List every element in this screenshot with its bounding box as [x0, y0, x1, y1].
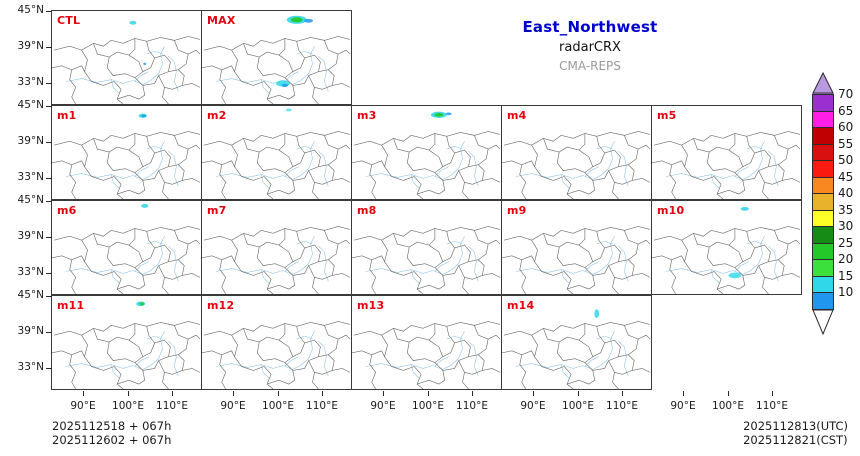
colorbar-cap-top-outline — [812, 72, 834, 94]
colorbar-tick-label: 50 — [838, 155, 853, 165]
colorbar-tick-label: 60 — [838, 122, 853, 132]
colorbar-segment — [812, 259, 834, 277]
panel-label: m3 — [357, 109, 377, 122]
y-axis-tick-label: 39°N — [2, 135, 44, 147]
colorbar-cap-bottom — [812, 309, 834, 335]
colorbar-segment — [812, 276, 834, 294]
x-axis-tick — [622, 391, 623, 396]
colorbar-segment — [812, 193, 834, 211]
colorbar-tick-label: 45 — [838, 172, 853, 182]
x-axis-tick-label: 110°E — [149, 400, 195, 412]
colorbar-segment — [812, 160, 834, 178]
colorbar-tick-label: 20 — [838, 254, 853, 264]
x-axis-tick — [728, 391, 729, 396]
y-axis-tick — [46, 142, 52, 143]
x-axis-tick — [322, 391, 323, 396]
panel-label: m2 — [207, 109, 227, 122]
colorbar-tick-label: 30 — [838, 221, 853, 231]
panel-label: MAX — [207, 14, 236, 27]
colorbar-segment — [812, 111, 834, 129]
x-axis-tick-label: 90°E — [660, 400, 706, 412]
colorbar-tick-label: 15 — [838, 271, 853, 281]
footer-right-line1: 2025112813(UTC) — [743, 420, 848, 434]
colorbar-tick-label: 25 — [838, 238, 853, 248]
panel-empty — [651, 295, 802, 390]
panel-label: m13 — [357, 299, 384, 312]
colorbar-segment — [812, 210, 834, 228]
y-axis-tick-label: 33°N — [2, 266, 44, 278]
x-axis-tick — [83, 391, 84, 396]
x-axis-tick — [578, 391, 579, 396]
colorbar-segment — [812, 94, 834, 112]
colorbar-tick-label: 40 — [838, 188, 853, 198]
panel-empty — [351, 10, 502, 105]
panel-row: m1m2m3m4m5 — [52, 106, 807, 201]
x-axis-tick-label: 90°E — [60, 400, 106, 412]
panel-m10[interactable]: m10 — [651, 200, 802, 295]
y-axis-tick-label: 39°N — [2, 325, 44, 337]
colorbar-tick-label: 55 — [838, 139, 853, 149]
x-axis-tick-label: 90°E — [510, 400, 556, 412]
y-axis-tick — [46, 106, 52, 107]
panel-label: m5 — [657, 109, 677, 122]
panel-m2[interactable]: m2 — [201, 105, 352, 200]
y-axis-tick-label: 39°N — [2, 230, 44, 242]
x-axis-tick — [383, 391, 384, 396]
x-axis-tick — [128, 391, 129, 396]
panel-m14[interactable]: m14 — [501, 295, 652, 390]
y-axis-tick-label: 45°N — [2, 99, 44, 111]
colorbar-segment — [812, 226, 834, 244]
x-axis-tick-label: 100°E — [705, 400, 751, 412]
panel-label: m12 — [207, 299, 234, 312]
panel-label: m9 — [507, 204, 527, 217]
colorbar-tick-label: 35 — [838, 205, 853, 215]
y-axis-tick — [46, 296, 52, 297]
x-axis-tick-label: 110°E — [599, 400, 645, 412]
x-axis-tick — [772, 391, 773, 396]
panel-m3[interactable]: m3 — [351, 105, 502, 200]
panel-label: m11 — [57, 299, 84, 312]
footer-left: 2025112518 + 067h 2025112602 + 067h — [52, 420, 171, 447]
panel-m7[interactable]: m7 — [201, 200, 352, 295]
y-axis-tick — [46, 83, 52, 84]
colorbar-segment — [812, 127, 834, 145]
panel-m6[interactable]: m6 — [51, 200, 202, 295]
x-axis-tick — [233, 391, 234, 396]
y-axis-tick-label: 45°N — [2, 289, 44, 301]
x-axis-tick-label: 90°E — [360, 400, 406, 412]
panel-empty — [501, 10, 652, 105]
x-axis-tick-label: 90°E — [210, 400, 256, 412]
y-axis-tick — [46, 332, 52, 333]
panel-m8[interactable]: m8 — [351, 200, 502, 295]
x-axis-tick — [172, 391, 173, 396]
panel-row: CTLMAX — [52, 11, 807, 106]
colorbar-segment — [812, 243, 834, 261]
y-axis-tick — [46, 201, 52, 202]
x-axis-tick — [428, 391, 429, 396]
footer-right: 2025112813(UTC) 2025112821(CST) — [743, 420, 848, 447]
y-axis-tick — [46, 11, 52, 12]
panel-label: CTL — [57, 14, 80, 27]
panel-row: m11m12m13m14 — [52, 296, 807, 391]
x-axis-tick — [683, 391, 684, 396]
panel-label: m10 — [657, 204, 684, 217]
colorbar-segment — [812, 177, 834, 195]
panel-empty — [651, 10, 802, 105]
x-axis-tick-label: 100°E — [255, 400, 301, 412]
panel-label: m6 — [57, 204, 77, 217]
panel-m11[interactable]: m11 — [51, 295, 202, 390]
panel-row: m6m7m8m9m10 — [52, 201, 807, 296]
x-axis-tick-label: 100°E — [105, 400, 151, 412]
footer-left-line2: 2025112602 + 067h — [52, 434, 171, 448]
x-axis-tick — [278, 391, 279, 396]
colorbar-tick-label: 10 — [838, 287, 853, 297]
y-axis-tick-label: 33°N — [2, 76, 44, 88]
x-axis-tick — [533, 391, 534, 396]
x-axis-tick-label: 110°E — [449, 400, 495, 412]
footer-left-line1: 2025112518 + 067h — [52, 420, 171, 434]
panel-m9[interactable]: m9 — [501, 200, 652, 295]
y-axis-tick-label: 39°N — [2, 40, 44, 52]
x-axis-tick-label: 110°E — [299, 400, 345, 412]
colorbar-segment — [812, 144, 834, 162]
colorbar-tick-label: 65 — [838, 106, 853, 116]
y-axis-tick-label: 45°N — [2, 194, 44, 206]
colorbar: 70656055504540353025201510 — [812, 72, 834, 336]
y-axis-tick — [46, 178, 52, 179]
panel-grid: CTLMAXm1m2m3m4m5m6m7m8m9m10m11m12m13m14 — [52, 11, 807, 391]
colorbar-segment — [812, 292, 834, 310]
panel-label: m8 — [357, 204, 377, 217]
y-axis-tick-label: 33°N — [2, 171, 44, 183]
panel-max[interactable]: MAX — [201, 10, 352, 105]
panel-label: m14 — [507, 299, 534, 312]
y-axis-tick-label: 45°N — [2, 4, 44, 16]
panel-label: m1 — [57, 109, 77, 122]
x-axis-tick-label: 110°E — [749, 400, 795, 412]
panel-ctl[interactable]: CTL — [51, 10, 202, 105]
x-axis-tick-label: 100°E — [555, 400, 601, 412]
x-axis-tick-label: 100°E — [405, 400, 451, 412]
panel-m12[interactable]: m12 — [201, 295, 352, 390]
y-axis-tick — [46, 273, 52, 274]
y-axis-tick-label: 33°N — [2, 361, 44, 373]
panel-m4[interactable]: m4 — [501, 105, 652, 200]
y-axis-tick — [46, 368, 52, 369]
panel-m13[interactable]: m13 — [351, 295, 502, 390]
panel-label: m7 — [207, 204, 227, 217]
panel-m5[interactable]: m5 — [651, 105, 802, 200]
x-axis-tick — [472, 391, 473, 396]
panel-label: m4 — [507, 109, 527, 122]
y-axis-tick — [46, 237, 52, 238]
colorbar-tick-label: 70 — [838, 89, 853, 99]
panel-m1[interactable]: m1 — [51, 105, 202, 200]
y-axis-tick — [46, 47, 52, 48]
footer-right-line2: 2025112821(CST) — [743, 434, 848, 448]
